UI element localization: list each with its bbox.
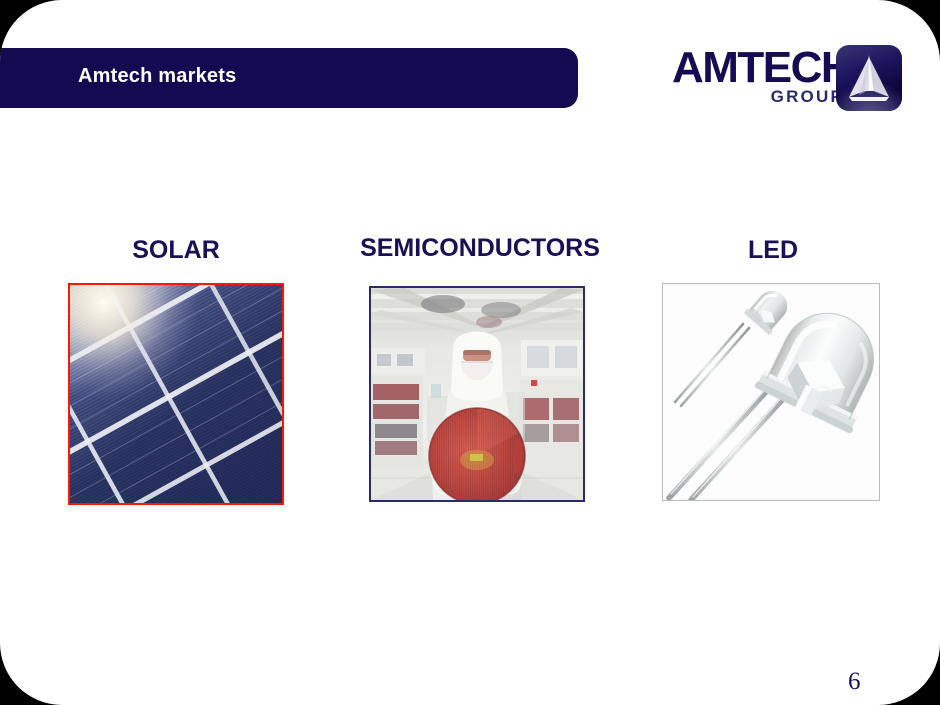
page-title: Amtech markets bbox=[78, 65, 236, 88]
market-label-led: LED bbox=[660, 236, 886, 265]
semiconductor-cleanroom-photo bbox=[369, 286, 585, 502]
market-label-semiconductors: SEMICONDUCTORS bbox=[352, 234, 608, 263]
amtech-triangle-emblem-icon bbox=[836, 45, 902, 111]
amtech-group-logo: AMTECH GROUP bbox=[672, 44, 912, 122]
solar-panel-image bbox=[70, 285, 282, 503]
led-lamps-photo bbox=[662, 283, 880, 501]
logo-wordmark: AMTECH bbox=[672, 46, 851, 90]
market-label-solar: SOLAR bbox=[58, 236, 294, 265]
led-lamps-image bbox=[663, 284, 879, 500]
slide: Amtech markets AMTECH GROUP SOLAR bbox=[0, 0, 940, 705]
emblem-tower-shape bbox=[836, 45, 902, 111]
page-number: 6 bbox=[848, 668, 861, 696]
solar-panel-photo bbox=[68, 283, 284, 505]
semiconductor-cleanroom-image bbox=[371, 288, 583, 500]
logo-subtitle: GROUP bbox=[756, 88, 844, 105]
